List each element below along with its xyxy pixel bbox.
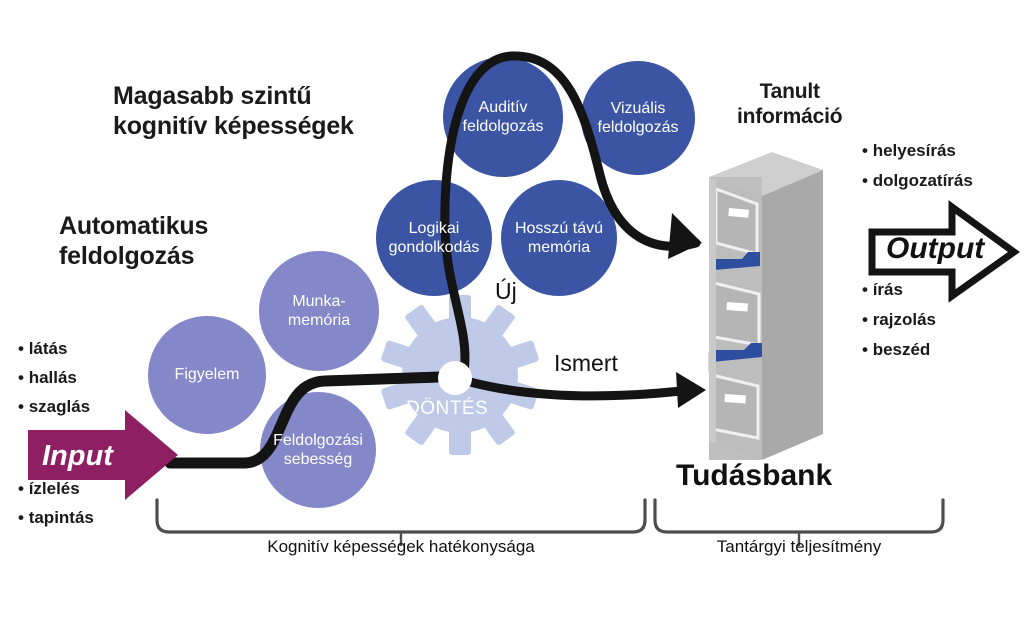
output-skills-bottom: • írás • rajzolás • beszéd [862,281,936,358]
brace-left [157,500,645,532]
list-item: • helyesírás [862,142,973,159]
list-item: • ízlelés [18,480,94,497]
brace-label-cognitive-efficiency: Kognitív képességek hatékonysága [221,537,581,557]
input-arrow-label: Input [42,440,113,473]
branch-label-known: Ismert [554,350,618,377]
list-item: • tapintás [18,509,94,526]
list-item: • beszéd [862,341,936,358]
heading-learned-information: Tanult információ [737,80,842,130]
list-item: • hallás [18,369,90,386]
brace-right [655,500,943,532]
decision-gear-label: DÖNTÉS [406,398,488,420]
list-item: • írás [862,281,936,298]
input-senses-top: • látás • hallás • szaglás [18,340,90,415]
list-item: • szaglás [18,398,90,415]
circle-figyelem [148,316,266,434]
circle-hosszu-tavu-memoria [501,180,617,296]
arrowhead-new-branch [668,213,702,259]
filing-cabinet-icon [708,152,823,460]
heading-knowledge-bank: Tudásbank [676,459,832,493]
arrowhead-known-branch [676,372,706,408]
branch-label-new: Új [495,278,517,305]
input-senses-bottom: • ízlelés • tapintás [18,480,94,526]
list-item: • látás [18,340,90,357]
list-item: • dolgozatírás [862,172,973,189]
output-arrow-label: Output [886,232,984,266]
circle-logikai-gondolkodas [376,180,492,296]
output-skills-top: • helyesírás • dolgozatírás [862,142,973,189]
heading-automatic-processing: Automatikus feldolgozás [59,212,208,271]
list-item: • rajzolás [862,311,936,328]
brace-label-academic-performance: Tantárgyi teljesítmény [669,537,929,557]
heading-higher-cognitive: Magasabb szintű kognitív képességek [113,82,354,141]
circle-feldolgozasi-sebesseg [260,392,376,508]
circle-munkamemoria [259,251,379,371]
diagram-canvas: Magasabb szintű kognitív képességek Auto… [0,0,1024,633]
decision-node [438,361,472,395]
